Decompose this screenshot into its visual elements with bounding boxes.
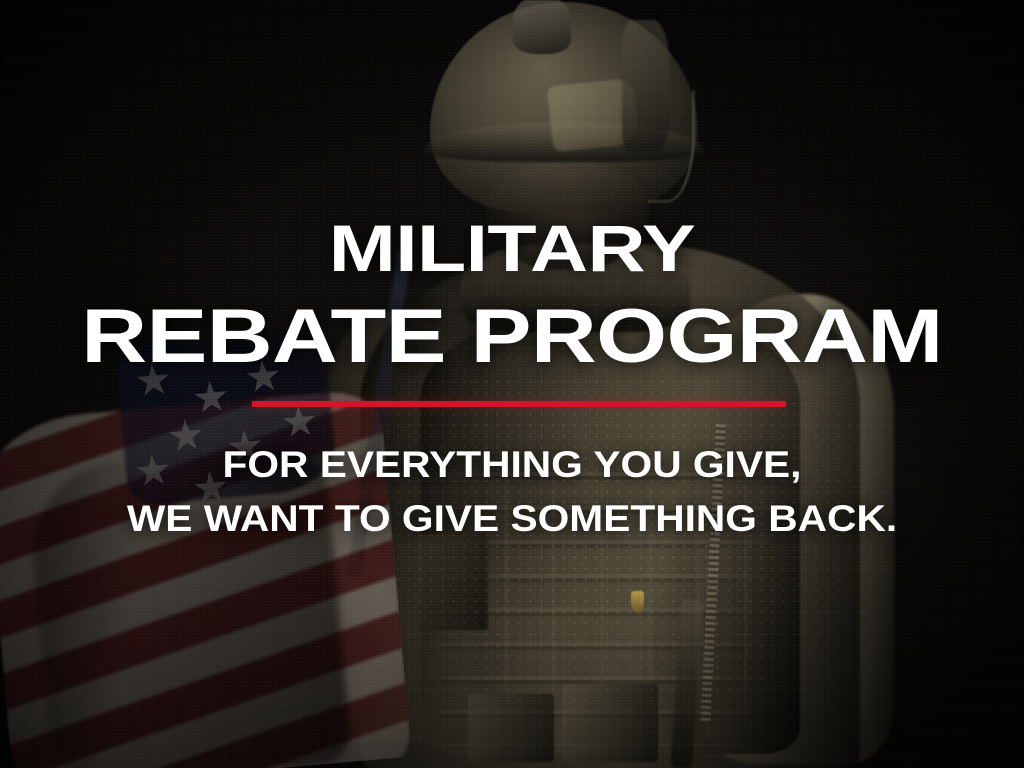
- headline-line-1: MILITARY: [0, 218, 1024, 279]
- subhead-line-1: FOR EVERYTHING YOU GIVE,: [0, 446, 1024, 483]
- headline-line-2: REBATE PROGRAM: [0, 302, 1024, 372]
- military-rebate-poster: MILITARY REBATE PROGRAM FOR EVERYTHING Y…: [0, 0, 1024, 768]
- poster-content: MILITARY REBATE PROGRAM FOR EVERYTHING Y…: [0, 0, 1024, 768]
- red-divider-rule: [252, 401, 786, 407]
- subhead-line-2: WE WANT TO GIVE SOMETHING BACK.: [0, 500, 1024, 537]
